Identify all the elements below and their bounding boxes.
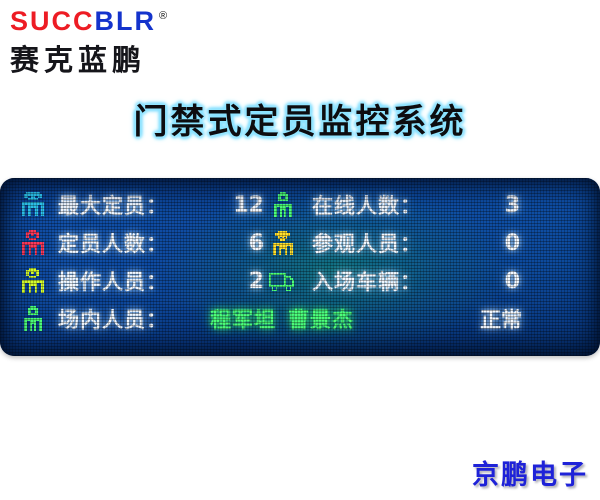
led-readout-grid: 最大定员： 12 在线人数： 3 [18,186,584,348]
person-hardhat-icon [18,266,48,296]
led-onsite-names: 程军坦曹景杰 [210,304,468,334]
led-label-online-count: 在线人数： [312,190,468,220]
brand-wordmark-succ: SUCC [10,6,95,36]
led-label-max-capacity: 最大定员： [58,190,210,220]
led-label-vehicles-onsite: 入场车辆： [312,266,468,296]
truck-icon [268,266,298,296]
led-value-registered-count: 6 [210,231,268,256]
person-visitor-icon [268,228,298,258]
led-label-onsite-personnel: 场内人员： [58,304,210,334]
brand-wordmark-blr: BLR [95,6,157,36]
person-hardhat-icon [18,190,48,220]
led-display-panel: 最大定员： 12 在线人数： 3 [0,178,600,356]
person-icon [268,190,298,220]
onsite-name-1: 程军坦 [210,308,276,332]
led-value-max-capacity: 12 [210,193,268,218]
footer-company-name: 京鹏电子 [472,453,588,492]
page-title: 门禁式定员监控系统 [0,94,600,143]
led-label-operator-count: 操作人员： [58,266,210,296]
led-value-visitor-count: 0 [468,231,524,256]
status-badge: 正常 [468,304,524,334]
led-label-registered-count: 定员人数： [58,228,210,258]
led-label-visitor-count: 参观人员： [312,228,468,258]
led-value-online-count: 3 [468,193,524,218]
person-hardhat-icon [18,228,48,258]
person-icon [18,304,48,334]
led-value-vehicles-onsite: 0 [468,269,524,294]
brand-logo: SUCCBLR® 赛克蓝鹏 [10,6,210,72]
registered-trademark-icon: ® [159,1,167,31]
brand-wordmark: SUCCBLR® [10,6,210,42]
onsite-name-2: 曹景杰 [288,308,354,332]
led-value-operator-count: 2 [210,269,268,294]
brand-chinese-name: 赛克蓝鹏 [10,43,210,77]
